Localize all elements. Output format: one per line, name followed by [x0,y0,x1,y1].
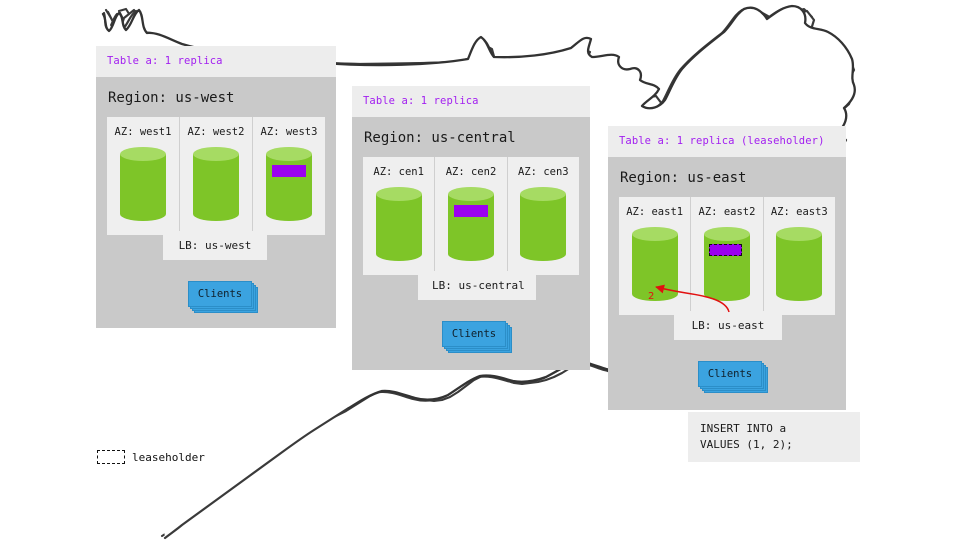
cylinder-top [520,187,566,201]
arrow-step-label-2: 2 [648,291,654,302]
node-cylinder-cen1[interactable] [376,187,422,261]
node-cylinder-west1[interactable] [120,147,166,221]
clients-card-front[interactable]: Clients [698,361,762,387]
cylinder-body [120,154,166,214]
az-label-west3: AZ: west3 [261,126,318,138]
az-label-east1: AZ: east1 [626,206,683,218]
clients-card-front[interactable]: Clients [188,281,252,307]
cylinder-top [193,147,239,161]
region-name-us-west: Region: us-west [96,77,336,117]
cylinder-top [266,147,312,161]
az-label-cen2: AZ: cen2 [446,166,497,178]
az-cen2[interactable]: AZ: cen2 [435,157,507,275]
sql-statement-box: INSERT INTO a VALUES (1, 2); [688,412,860,462]
node-cylinder-east1[interactable] [632,227,678,301]
az-label-cen3: AZ: cen3 [518,166,569,178]
node-cylinder-east2[interactable] [704,227,750,301]
cylinder-top [704,227,750,241]
region-title-us-west: Table a: 1 replica [96,46,336,77]
az-label-east2: AZ: east2 [699,206,756,218]
region-title-us-east: Table a: 1 replica (leaseholder) [608,126,846,157]
region-title-us-central: Table a: 1 replica [352,86,590,117]
clients-stack-us-east[interactable]: Clients [698,361,760,385]
az-label-west1: AZ: west1 [115,126,172,138]
cylinder-top [632,227,678,241]
load-balancer-us-east[interactable]: LB: us-east [674,311,782,340]
az-east2[interactable]: AZ: east2 [691,197,763,315]
cylinder-body [266,154,312,214]
az-label-east3: AZ: east3 [771,206,828,218]
az-west3[interactable]: AZ: west3 [253,117,325,235]
legend-label: leaseholder [132,451,205,464]
cylinder-top [448,187,494,201]
az-row-us-west: AZ: west1 AZ: west2 AZ: west3 [107,117,325,235]
az-east3[interactable]: AZ: east3 [764,197,835,315]
az-row-us-central: AZ: cen1 AZ: cen2 AZ: cen3 [363,157,579,275]
cylinder-body [776,234,822,294]
clients-stack-us-central[interactable]: Clients [442,321,504,345]
cylinder-body [448,194,494,254]
region-name-us-central: Region: us-central [352,117,590,157]
node-cylinder-east3[interactable] [776,227,822,301]
cylinder-body [632,234,678,294]
cylinder-body [376,194,422,254]
region-name-us-east: Region: us-east [608,157,846,197]
az-east1[interactable]: AZ: east1 [619,197,691,315]
cylinder-body [193,154,239,214]
az-label-west2: AZ: west2 [188,126,245,138]
az-west2[interactable]: AZ: west2 [180,117,253,235]
az-cen3[interactable]: AZ: cen3 [508,157,579,275]
cylinder-top [120,147,166,161]
node-cylinder-cen3[interactable] [520,187,566,261]
replica-marker-cen2 [454,205,488,217]
node-cylinder-west2[interactable] [193,147,239,221]
az-label-cen1: AZ: cen1 [373,166,424,178]
cylinder-top [376,187,422,201]
dashed-rect-icon [97,450,125,464]
replica-marker-west3 [272,165,306,177]
cylinder-top [776,227,822,241]
node-cylinder-cen2[interactable] [448,187,494,261]
node-cylinder-west3[interactable] [266,147,312,221]
load-balancer-us-central[interactable]: LB: us-central [418,271,536,300]
clients-stack-us-west[interactable]: Clients [188,281,250,305]
leaseholder-marker-east2 [709,244,742,256]
legend-leaseholder: leaseholder [97,450,205,464]
cylinder-body [704,234,750,294]
az-cen1[interactable]: AZ: cen1 [363,157,435,275]
cylinder-body [520,194,566,254]
az-west1[interactable]: AZ: west1 [107,117,180,235]
clients-card-front[interactable]: Clients [442,321,506,347]
load-balancer-us-west[interactable]: LB: us-west [163,231,267,260]
